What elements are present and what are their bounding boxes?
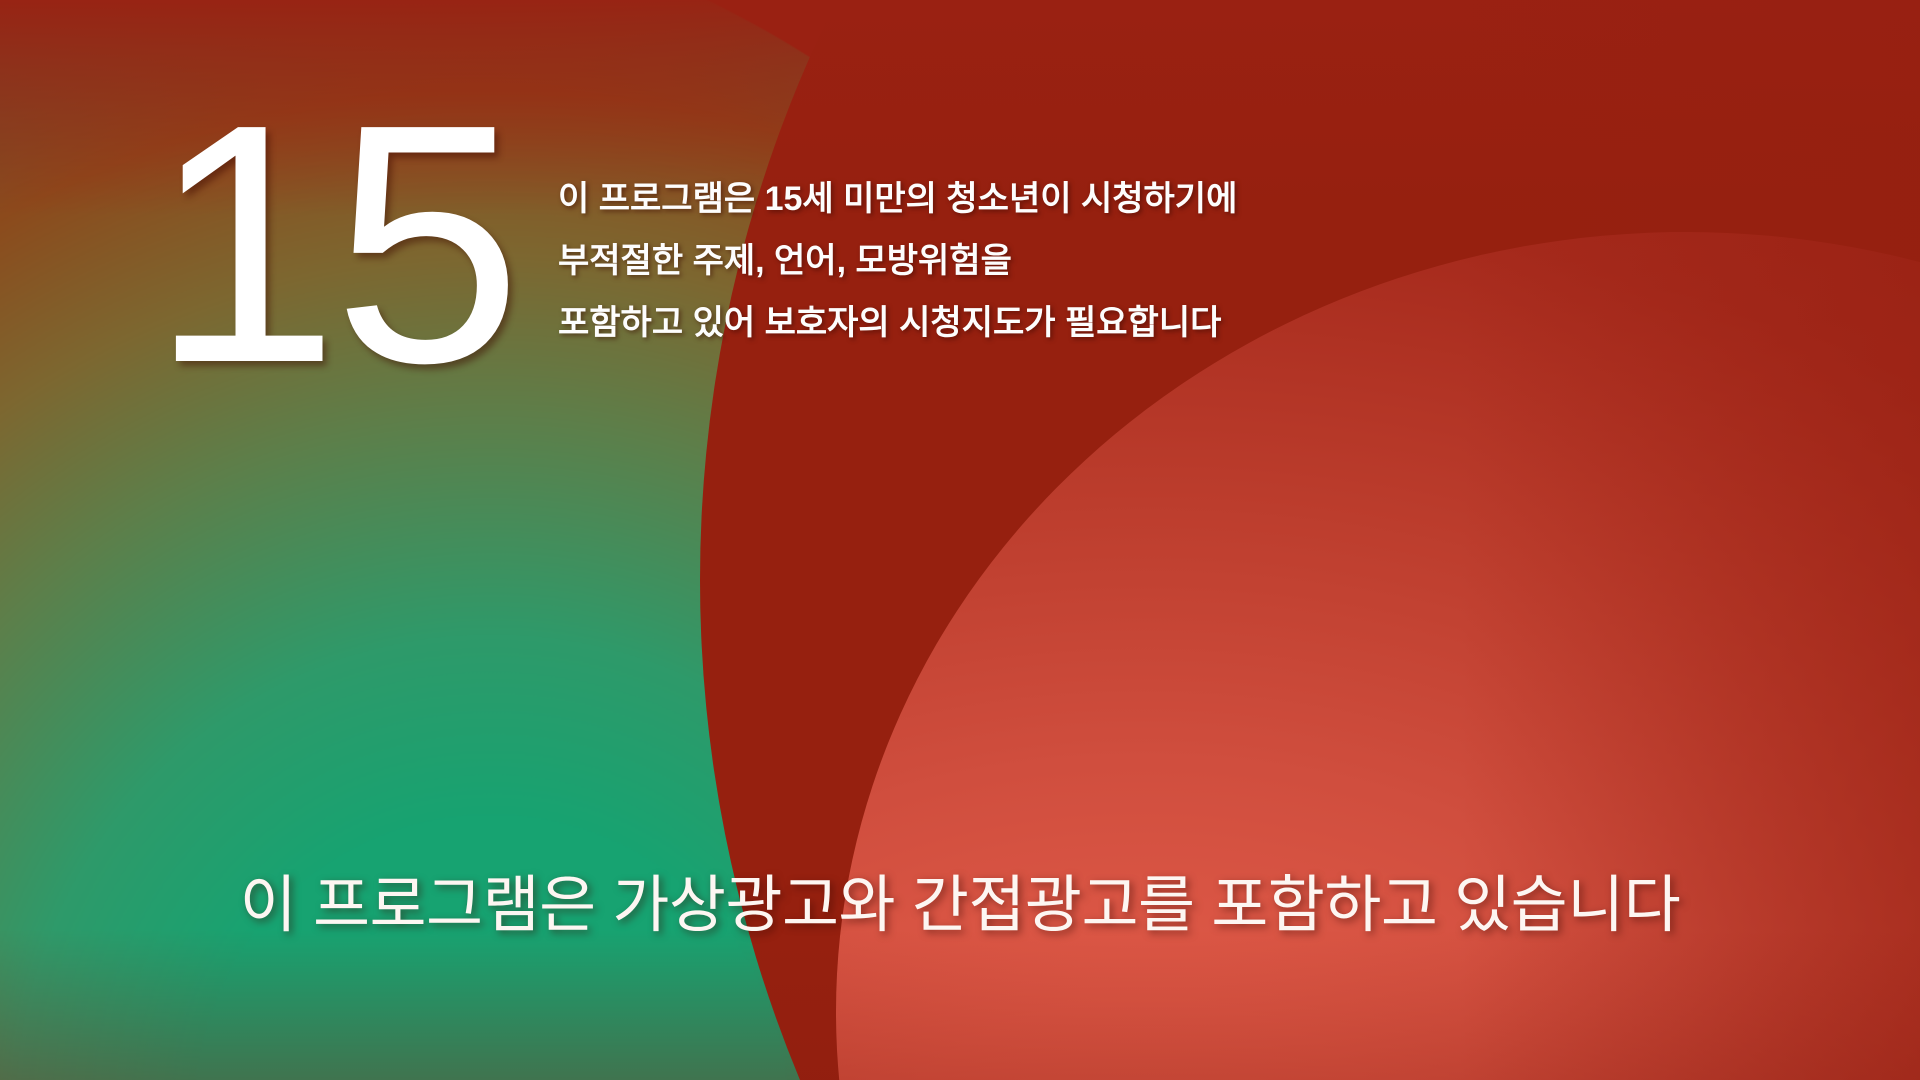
- advertising-notice-text: 이 프로그램은 가상광고와 간접광고를 포함하고 있습니다: [0, 872, 1920, 940]
- rating-notice-line: 부적절한 주제, 언어, 모방위험을: [558, 230, 1458, 292]
- rating-notice-line: 포함하고 있어 보호자의 시청지도가 필요합니다: [558, 292, 1458, 354]
- overlay-content: 15 이 프로그램은 15세 미만의 청소년이 시청하기에 부적절한 주제, 언…: [0, 0, 1920, 1080]
- broadcast-rating-screen: 15 이 프로그램은 15세 미만의 청소년이 시청하기에 부적절한 주제, 언…: [0, 0, 1920, 1080]
- rating-notice-block: 이 프로그램은 15세 미만의 청소년이 시청하기에 부적절한 주제, 언어, …: [558, 168, 1458, 354]
- age-rating-number: 15: [150, 74, 516, 414]
- rating-notice-line: 이 프로그램은 15세 미만의 청소년이 시청하기에: [558, 168, 1458, 230]
